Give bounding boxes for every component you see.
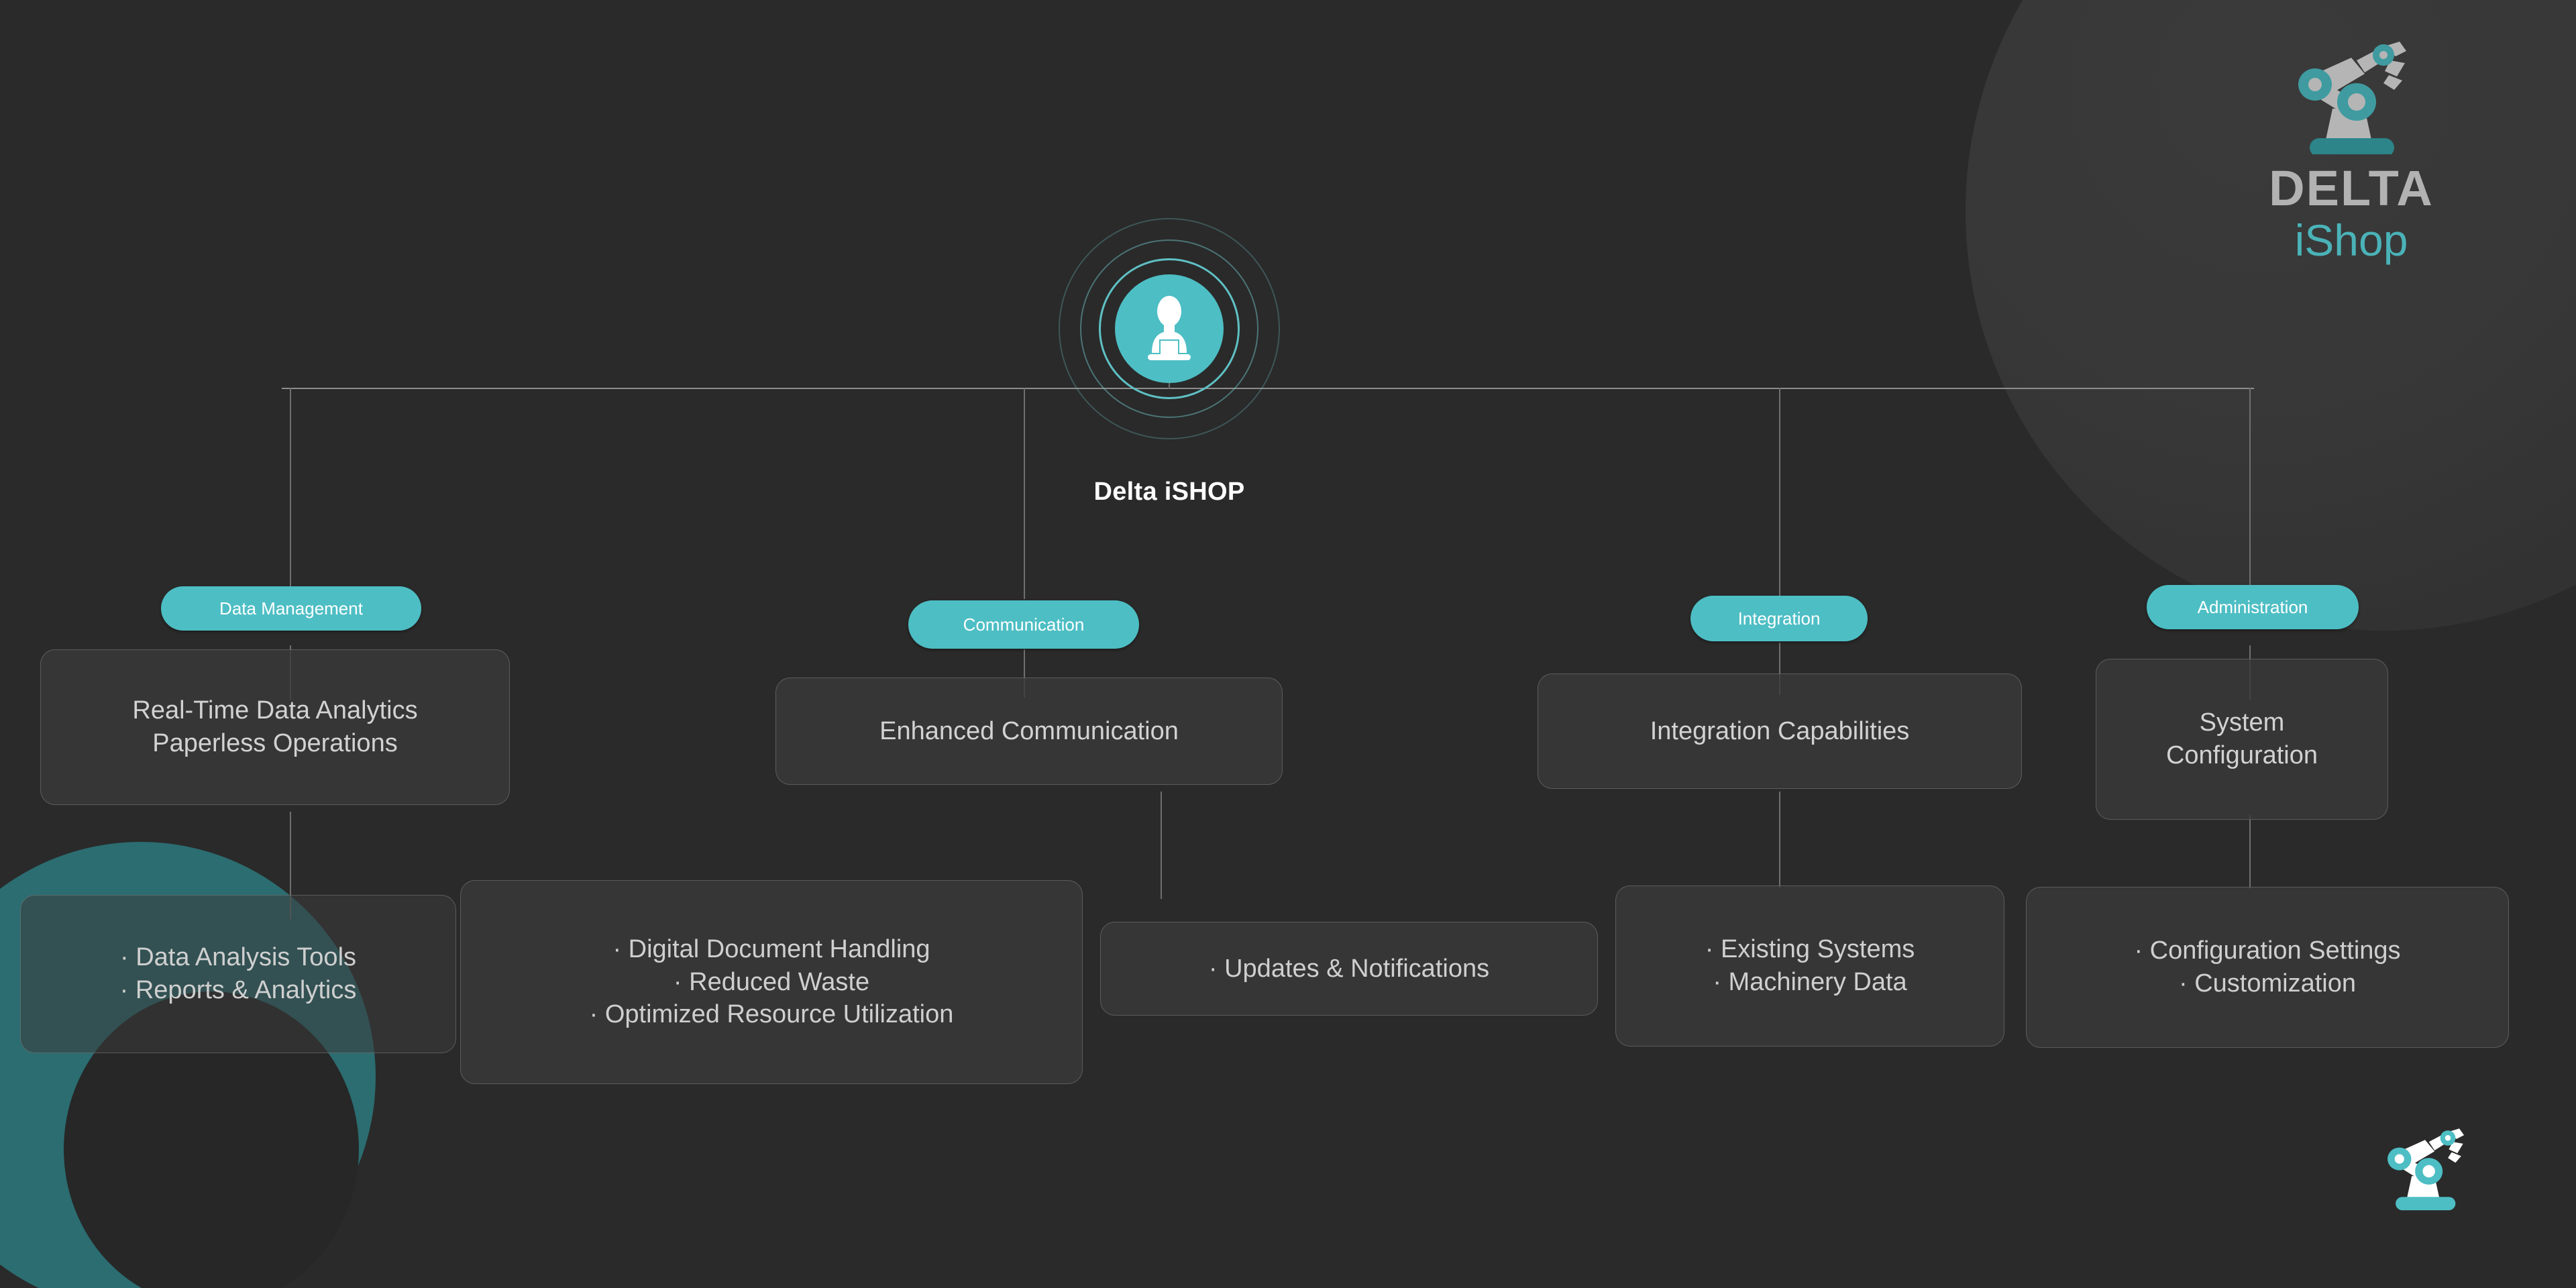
brand-name: DELTA — [2200, 164, 2502, 213]
person-at-laptop-icon — [1137, 295, 1201, 362]
card-data-management-primary[interactable]: Real-Time Data Analytics Paperless Opera… — [40, 649, 510, 805]
pill-data-management[interactable]: Data Management — [161, 586, 421, 631]
bullet-item: Optimized Resource Utilization — [590, 998, 954, 1031]
diagram-canvas: Delta iSHOP Data Management Real-Time Da… — [0, 0, 2576, 1288]
pill-label: Administration — [2198, 597, 2308, 618]
pill-integration[interactable]: Integration — [1690, 596, 1868, 641]
pill-administration[interactable]: Administration — [2147, 585, 2359, 629]
bullet-item: Reduced Waste — [674, 966, 869, 999]
bullet-item: Reports & Analytics — [120, 974, 357, 1007]
connector-administration-down — [2249, 388, 2251, 609]
connector-communication-down — [1024, 388, 1025, 599]
bullet-item: Customization — [2179, 967, 2356, 1000]
pill-label: Data Management — [219, 598, 363, 619]
card-line: Enhanced Communication — [879, 715, 1179, 748]
card-communication-primary[interactable]: Enhanced Communication — [775, 678, 1283, 785]
bullet-item: Updates & Notifications — [1209, 953, 1489, 985]
bullet-item: Machinery Data — [1713, 966, 1907, 999]
bullet-item: Data Analysis Tools — [120, 941, 356, 974]
card-administration-primary[interactable]: System Configuration — [2096, 659, 2388, 820]
connector-integration-down — [1779, 388, 1780, 597]
connector-data-management-down — [290, 388, 291, 609]
brand-subname: iShop — [2200, 216, 2502, 265]
hub-label: Delta iSHOP — [1059, 478, 1280, 506]
card-communication-bullets[interactable]: Updates & Notifications — [1100, 922, 1598, 1016]
connector-communication-to-bullets — [1161, 792, 1162, 899]
card-integration-bullets[interactable]: Existing Systems Machinery Data — [1615, 885, 2004, 1046]
bullet-item: Configuration Settings — [2134, 934, 2400, 967]
card-line: System — [2200, 706, 2285, 739]
pill-label: Communication — [963, 614, 1085, 635]
bullet-item: Existing Systems — [1705, 933, 1915, 966]
connector-administration-to-bullets — [2249, 815, 2251, 889]
hub-core — [1115, 274, 1224, 383]
bullet-item: Digital Document Handling — [612, 933, 930, 966]
robot-arm-icon — [2271, 34, 2432, 154]
card-line: Configuration — [2166, 739, 2318, 772]
pill-label: Integration — [1738, 608, 1821, 629]
card-integration-primary[interactable]: Integration Capabilities — [1538, 674, 2022, 789]
robot-arm-icon-small — [2368, 1117, 2482, 1214]
pill-communication[interactable]: Communication — [908, 600, 1139, 649]
card-data-management-bullets[interactable]: Data Analysis Tools Reports & Analytics — [20, 895, 456, 1053]
card-line: Integration Capabilities — [1650, 715, 1910, 748]
card-line: Real-Time Data Analytics — [132, 694, 417, 727]
card-paperless-bullets[interactable]: Digital Document Handling Reduced Waste … — [460, 880, 1083, 1084]
connector-integration-to-bullets — [1779, 792, 1780, 888]
card-administration-bullets[interactable]: Configuration Settings Customization — [2026, 887, 2509, 1048]
brand-logo: DELTA iShop — [2200, 34, 2502, 265]
card-line: Paperless Operations — [152, 727, 397, 760]
hub-node[interactable] — [1059, 218, 1280, 439]
